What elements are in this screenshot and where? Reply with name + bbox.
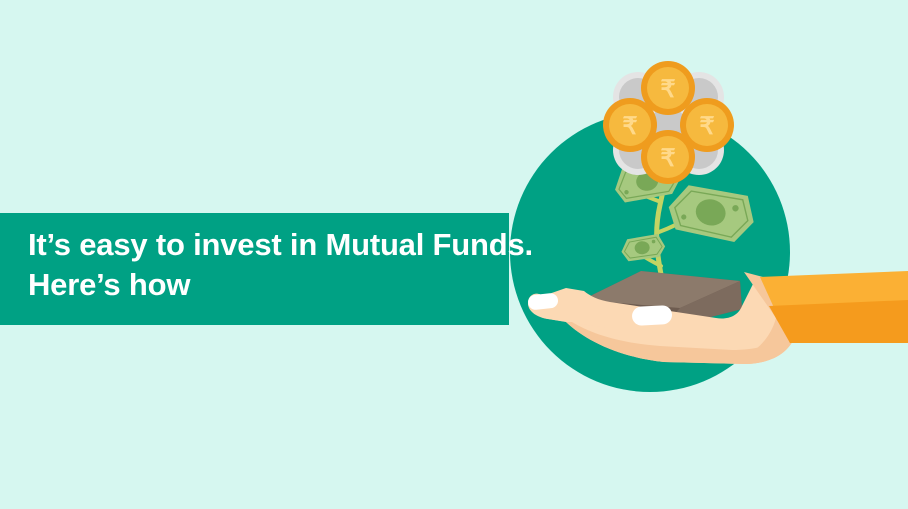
- sleeve-lower: [769, 300, 908, 343]
- headline-band-rect: [0, 213, 509, 325]
- rupee-symbol: ₹: [699, 113, 714, 140]
- money-plant-illustration: ₹ ₹ ₹ ₹: [0, 0, 908, 509]
- rupee-symbol: ₹: [660, 76, 675, 103]
- headline-band: [0, 213, 509, 325]
- gold-coin-bottom: ₹: [641, 130, 695, 184]
- promo-banner: ₹ ₹ ₹ ₹: [0, 0, 908, 509]
- rupee-symbol: ₹: [622, 113, 637, 140]
- coin-flower-head: ₹ ₹ ₹ ₹: [603, 61, 734, 184]
- rupee-symbol: ₹: [660, 145, 675, 172]
- finger-nail: [632, 305, 673, 326]
